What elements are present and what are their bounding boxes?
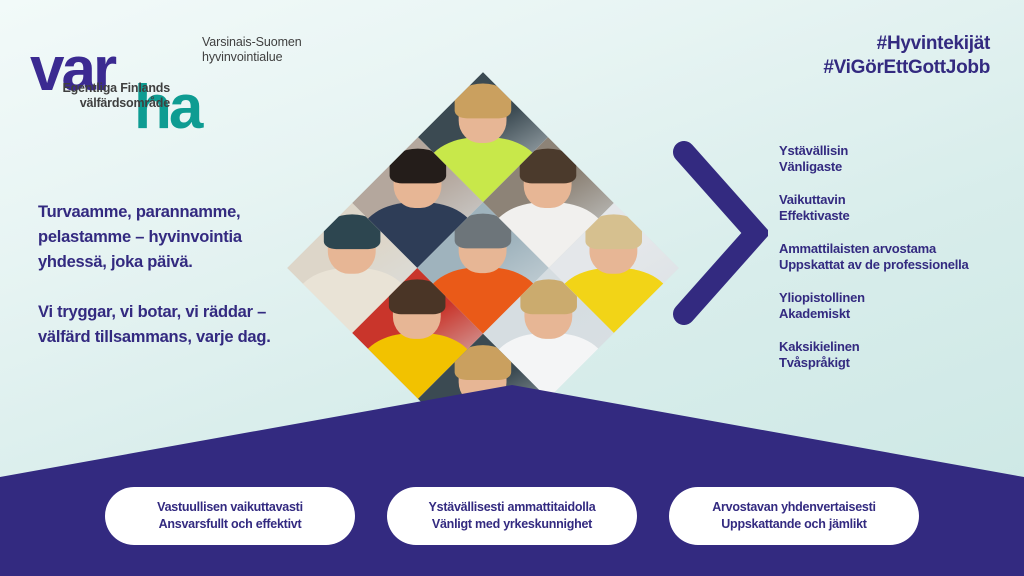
- hashtag-fi: #Hyvintekijät: [823, 32, 990, 56]
- logo-subtitle-sv: Egentliga Finlands välfärdsområde: [30, 81, 170, 110]
- value-label-sv: Uppskattat av de professionella: [779, 257, 1019, 273]
- pill-label-sv: Uppskattande och jämlikt: [721, 516, 866, 533]
- promise-pill: Ystävällisesti ammattitaidolla Vänligt m…: [387, 487, 637, 545]
- values-list: Ystävällisin Vänligaste Vaikuttavin Effe…: [779, 143, 1019, 388]
- hashtag-sv: #ViGörEttGottJobb: [823, 56, 990, 80]
- varha-logo: var ha Egentliga Finlands välfärdsområde…: [30, 28, 320, 128]
- pill-label-fi: Vastuullisen vaikuttavasti: [157, 499, 303, 516]
- value-label-fi: Yliopistollinen: [779, 290, 1019, 306]
- value-label-sv: Effektivaste: [779, 208, 1019, 224]
- value-label-sv: Akademiskt: [779, 306, 1019, 322]
- poster-canvas: var ha Egentliga Finlands välfärdsområde…: [0, 0, 1024, 576]
- logo-subtitle-fi: Varsinais-Suomen hyvinvointialue: [202, 35, 332, 64]
- value-item: Ystävällisin Vänligaste: [779, 143, 1019, 175]
- value-item: Ammattilaisten arvostama Uppskattat av d…: [779, 241, 1019, 273]
- pill-label-fi: Arvostavan yhdenvertaisesti: [712, 499, 875, 516]
- value-item: Kaksikielinen Tvåspråkigt: [779, 339, 1019, 371]
- pill-label-sv: Vänligt med yrkeskunnighet: [432, 516, 592, 533]
- promise-pill: Vastuullisen vaikuttavasti Ansvarsfullt …: [105, 487, 355, 545]
- pill-label-fi: Ystävällisesti ammattitaidolla: [429, 499, 596, 516]
- promise-pill: Arvostavan yhdenvertaisesti Uppskattande…: [669, 487, 919, 545]
- promise-pills: Vastuullisen vaikuttavasti Ansvarsfullt …: [0, 487, 1024, 547]
- value-label-sv: Tvåspråkigt: [779, 355, 1019, 371]
- pill-label-sv: Ansvarsfullt och effektivt: [159, 516, 302, 533]
- purple-chevron-band: [0, 385, 1024, 576]
- slogan-sv: Vi tryggar, vi botar, vi räddar – välfär…: [38, 300, 288, 350]
- value-label-fi: Kaksikielinen: [779, 339, 1019, 355]
- value-item: Yliopistollinen Akademiskt: [779, 290, 1019, 322]
- value-label-fi: Vaikuttavin: [779, 192, 1019, 208]
- hashtags: #Hyvintekijät #ViGörEttGottJobb: [823, 32, 990, 80]
- value-label-fi: Ystävällisin: [779, 143, 1019, 159]
- value-item: Vaikuttavin Effektivaste: [779, 192, 1019, 224]
- chevron-right-icon: [672, 140, 768, 326]
- slogan-fi: Turvaamme, parannamme, pelastamme – hyvi…: [38, 200, 288, 275]
- slogan: Turvaamme, parannamme, pelastamme – hyvi…: [38, 200, 288, 350]
- value-label-sv: Vänligaste: [779, 159, 1019, 175]
- value-label-fi: Ammattilaisten arvostama: [779, 241, 1019, 257]
